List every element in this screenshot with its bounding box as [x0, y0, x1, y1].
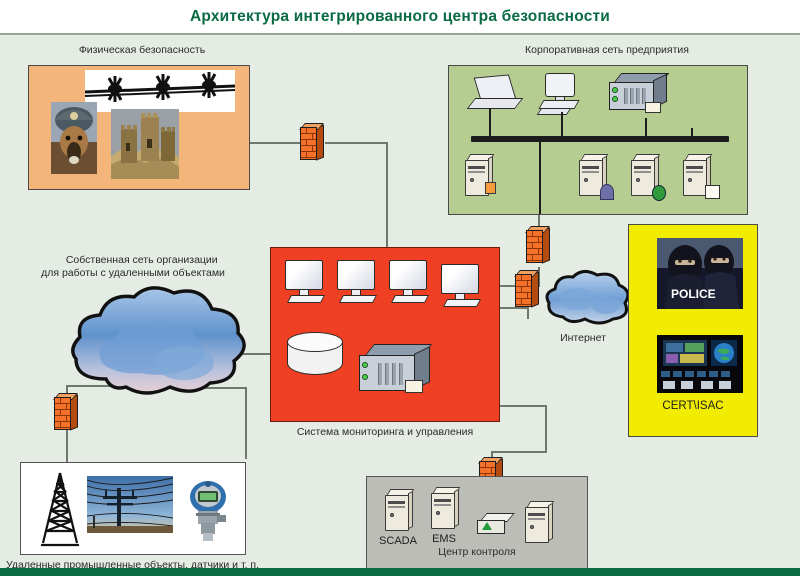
link-firewall1-right [325, 142, 387, 144]
tower-vent [388, 501, 405, 504]
police-swat-photo: POLICE [657, 238, 743, 309]
network-switch [477, 513, 513, 537]
zone-cert-isac: POLICE [628, 224, 758, 437]
radio-tower-icon [37, 471, 83, 552]
document-badge-icon [705, 185, 720, 199]
tower-slot [686, 171, 703, 173]
database-cylinder [287, 332, 345, 384]
tower-button [584, 178, 588, 182]
link-firewall4-down [66, 430, 68, 462]
firewall-face [54, 397, 71, 430]
firewall-own-network[interactable] [53, 392, 79, 432]
tower-button [470, 178, 474, 182]
switch-arrow-icon [482, 522, 492, 530]
rack-led-1 [362, 362, 368, 368]
desktop-pc [539, 73, 589, 121]
tower-button [530, 525, 534, 529]
link-red-right-out [500, 405, 546, 407]
zone-corporate-network [448, 65, 748, 215]
firewall-face [300, 127, 317, 160]
control-center-label: Центр контроля [397, 546, 557, 559]
power-lines-photo [87, 476, 173, 533]
link-firewall1-down [386, 142, 388, 248]
zone-monitoring-system [270, 247, 500, 422]
tower-slot [434, 504, 451, 506]
pc-monitor [545, 73, 575, 97]
firewall-internet[interactable] [514, 269, 540, 309]
user-badge-icon [600, 184, 614, 200]
rack-led-1 [612, 87, 618, 93]
monitor-base [391, 295, 429, 303]
diagram-page: Архитектура интегрированного центра безо… [0, 0, 800, 576]
rack-tray [405, 380, 423, 393]
rack-server-monitoring [359, 344, 437, 400]
tower-vent [434, 499, 451, 502]
zone-remote-objects [20, 462, 246, 555]
page-header: Архитектура интегрированного центра безо… [0, 0, 800, 33]
firewall-physical-security[interactable] [299, 122, 325, 162]
monitor-3 [387, 260, 433, 306]
monitor-screen [389, 260, 427, 290]
corporate-network-label: Корпоративная сеть предприятия [487, 44, 727, 57]
laptop [471, 76, 523, 114]
tower-button [688, 178, 692, 182]
monitor-4 [439, 264, 485, 310]
tower-button [436, 511, 440, 515]
tower-slot [634, 171, 651, 173]
firewall-corporate-network[interactable] [525, 225, 551, 265]
ems-label: EMS [419, 533, 469, 545]
globe-badge-icon [652, 185, 666, 201]
monitor-screen [337, 260, 375, 290]
tower-vent [686, 166, 703, 169]
tower-vent [582, 166, 599, 169]
page-title: Архитектура интегрированного центра безо… [190, 8, 610, 26]
tower-vent [528, 513, 545, 516]
firewall-face [515, 274, 532, 307]
monitor-base [339, 295, 377, 303]
laptop-keyboard [467, 98, 524, 109]
bus-drop-pc [561, 112, 563, 136]
internet-cloud [543, 269, 633, 327]
zone-physical-security [28, 65, 250, 190]
own-network-cloud [62, 283, 252, 401]
monitor-1 [283, 260, 329, 306]
cert-isac-label: CERT\ISAC [629, 400, 757, 412]
bus-drop-laptop [489, 108, 491, 136]
link-to-firewall5 [491, 451, 547, 453]
monitor-base [287, 295, 325, 303]
pc-keyboard [537, 108, 572, 115]
bottom-accent-bar [0, 568, 800, 576]
monitor-2 [335, 260, 381, 306]
tower-slot [468, 171, 485, 173]
rack-led-2 [612, 96, 618, 102]
link-red-right-down [545, 405, 547, 452]
physical-security-label: Физическая безопасность [42, 44, 242, 57]
barbed-wire-photo [85, 70, 235, 112]
tower-button [390, 513, 394, 517]
fortress-photo [111, 109, 179, 179]
monitor-base [443, 299, 481, 307]
tower-slot [582, 171, 599, 173]
tower-slot [388, 506, 405, 508]
rack-tray [645, 102, 661, 113]
monitoring-system-label: Система мониторинга и управления [265, 426, 505, 439]
diagram-canvas: Физическая безопасность [0, 35, 800, 568]
rack-server-corporate [609, 73, 671, 117]
tower-vent [634, 166, 651, 169]
bus-drop-rack [645, 118, 647, 136]
tower-flap [485, 182, 496, 194]
monitor-screen [441, 264, 479, 294]
cylinder-top [287, 332, 343, 352]
guard-dog-photo [51, 102, 97, 174]
svg-text:POLICE: POLICE [671, 287, 716, 301]
tower-button [636, 178, 640, 182]
monitor-screen [285, 260, 323, 290]
tower-vent [468, 166, 485, 169]
internet-label: Интернет [533, 332, 633, 345]
firewall-face [526, 230, 543, 263]
own-network-label-text: Собственная сеть организации для работы … [41, 254, 225, 279]
industrial-sensor-photo [184, 477, 232, 543]
control-room-photo [657, 335, 743, 393]
bus-drop-firewall [539, 136, 541, 214]
tower-slot [528, 518, 545, 520]
bus-drop-right [691, 128, 693, 138]
rack-led-2 [362, 374, 368, 380]
remote-objects-label: Удаленные промышленные объекты, датчики … [6, 559, 264, 568]
